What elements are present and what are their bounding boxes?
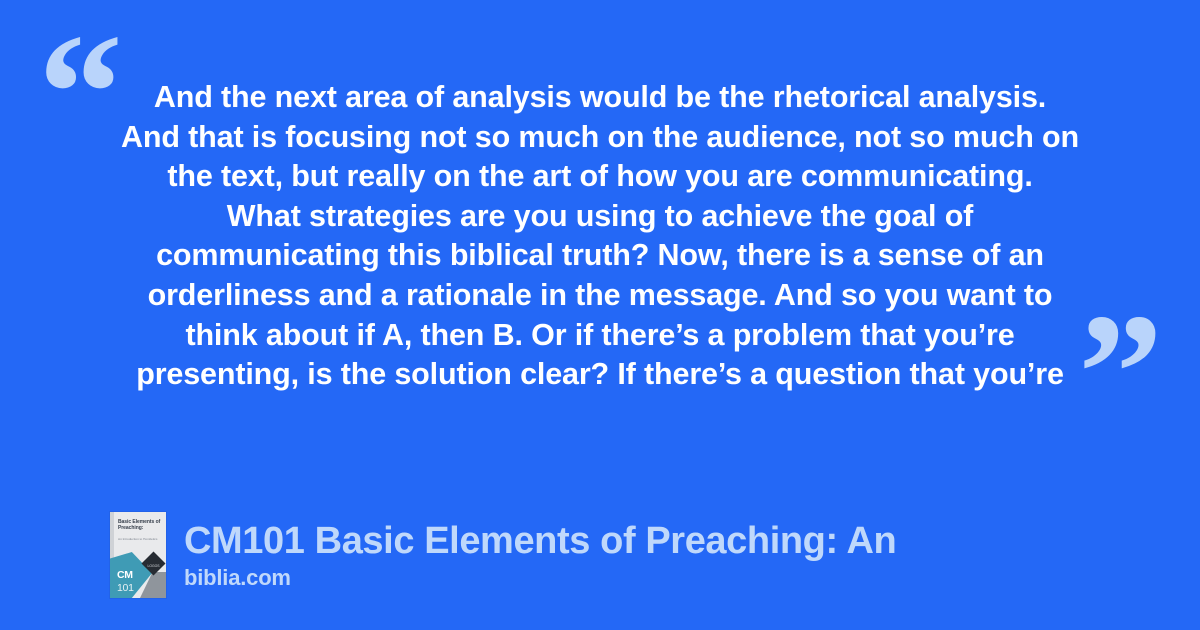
cover-badge-label: LOGOS bbox=[145, 564, 162, 568]
open-quote-icon: “ bbox=[38, 8, 123, 178]
close-quote-icon: ” bbox=[1078, 288, 1163, 458]
footer-text-block: CM101 Basic Elements of Preaching: An bi… bbox=[184, 519, 896, 591]
footer: Basic Elements of Preaching: An Introduc… bbox=[110, 512, 896, 598]
resource-title: CM101 Basic Elements of Preaching: An bbox=[184, 519, 896, 563]
site-name: biblia.com bbox=[184, 565, 896, 591]
quote-text: And the next area of analysis would be t… bbox=[118, 78, 1082, 395]
cover-subtitle: An Introduction to Homiletics bbox=[118, 537, 158, 541]
quote-card: “ ” And the next area of analysis would … bbox=[0, 0, 1200, 630]
cover-title: Basic Elements of Preaching: bbox=[118, 519, 161, 531]
book-cover-thumbnail: Basic Elements of Preaching: An Introduc… bbox=[110, 512, 166, 598]
cover-course-code: CM bbox=[117, 570, 133, 581]
cover-course-number: 101 bbox=[117, 583, 134, 594]
